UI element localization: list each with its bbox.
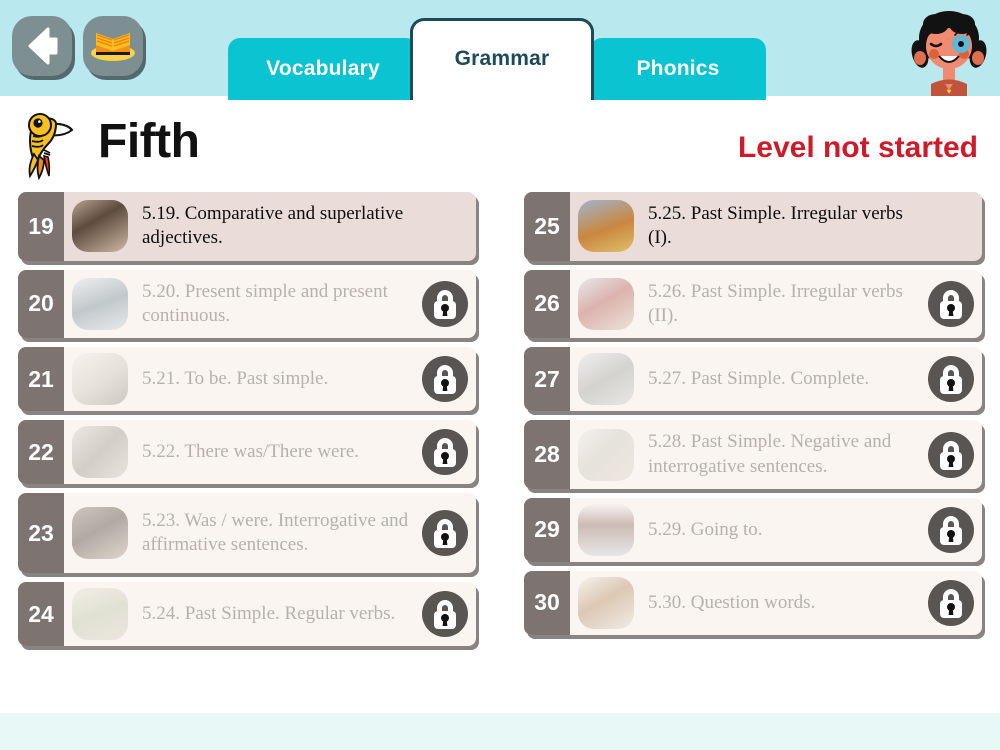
lesson-lock-icon	[420, 582, 476, 646]
lesson-number-badge: 22	[18, 420, 64, 484]
lesson-number-badge: 26	[524, 270, 570, 339]
lesson-thumbnail	[72, 507, 128, 559]
book-button[interactable]	[83, 16, 143, 76]
lesson-thumbnail	[578, 353, 634, 405]
page-title: Fifth	[98, 114, 199, 169]
lesson-thumbnail	[72, 426, 128, 478]
lesson-thumbnail	[578, 429, 634, 481]
padlock-closed-icon	[422, 281, 468, 327]
padlock-closed-icon	[422, 429, 468, 475]
lesson-title: 5.24. Past Simple. Regular verbs.	[128, 582, 420, 646]
lesson-number-badge: 29	[524, 498, 570, 562]
lesson-lock-icon	[926, 420, 982, 489]
lesson-title: 5.19. Comparative and superlative adject…	[128, 192, 420, 261]
tab-phonics-label: Phonics	[636, 57, 719, 81]
lesson-lock-icon	[420, 420, 476, 484]
lesson-column-right: 255.25. Past Simple. Irregular verbs (I)…	[524, 192, 982, 644]
lesson-row[interactable]: 245.24. Past Simple. Regular verbs.	[18, 582, 476, 646]
lesson-number-badge: 24	[18, 582, 64, 646]
padlock-closed-icon	[422, 510, 468, 556]
lesson-lock-icon	[926, 571, 982, 635]
lesson-thumbnail	[578, 504, 634, 556]
lesson-title: 5.28. Past Simple. Negative and interrog…	[634, 420, 926, 489]
lesson-number-badge: 28	[524, 420, 570, 489]
lesson-title: 5.29. Going to.	[634, 498, 926, 562]
section-tabs: Vocabulary Grammar Phonics	[228, 20, 768, 100]
lesson-title: 5.27. Past Simple. Complete.	[634, 347, 926, 411]
tab-vocabulary[interactable]: Vocabulary	[228, 38, 418, 100]
footer-band	[0, 713, 1000, 750]
lesson-thumbnail	[578, 577, 634, 629]
tab-grammar-label: Grammar	[455, 47, 550, 71]
lesson-row[interactable]: 235.23. Was / were. Interrogative and af…	[18, 493, 476, 573]
lesson-thumbnail	[72, 278, 128, 330]
lesson-thumbnail	[72, 588, 128, 640]
lesson-row[interactable]: 205.20. Present simple and present conti…	[18, 270, 476, 339]
lesson-number-badge: 27	[524, 347, 570, 411]
lesson-row[interactable]: 225.22. There was/There were.	[18, 420, 476, 484]
lesson-title: 5.26. Past Simple. Irregular verbs (II).	[634, 270, 926, 339]
lesson-title: 5.22. There was/There were.	[128, 420, 420, 484]
padlock-closed-icon	[928, 507, 974, 553]
student-avatar-icon: ♥	[903, 2, 995, 96]
level-header: Fifth Level not started	[0, 100, 1000, 186]
svg-text:♥: ♥	[947, 87, 952, 96]
level-status-text: Level not started	[738, 131, 978, 165]
lesson-row[interactable]: 305.30. Question words.	[524, 571, 982, 635]
lesson-lock-icon	[420, 270, 476, 339]
arrow-left-icon	[12, 16, 72, 76]
lesson-lock-icon	[926, 270, 982, 339]
lesson-row[interactable]: 195.19. Comparative and superlative adje…	[18, 192, 476, 261]
padlock-closed-icon	[928, 356, 974, 402]
lesson-row[interactable]: 275.27. Past Simple. Complete.	[524, 347, 982, 411]
lesson-lock-icon	[926, 498, 982, 562]
padlock-closed-icon	[422, 591, 468, 637]
lesson-thumbnail	[578, 200, 634, 252]
lesson-number-badge: 25	[524, 192, 570, 261]
lesson-number-badge: 21	[18, 347, 64, 411]
lesson-number-badge: 23	[18, 493, 64, 573]
padlock-closed-icon	[928, 281, 974, 327]
lesson-lock-icon	[420, 347, 476, 411]
toucan-bird-icon	[14, 108, 76, 180]
lesson-column-left: 195.19. Comparative and superlative adje…	[18, 192, 476, 655]
lesson-title: 5.25. Past Simple. Irregular verbs (I).	[634, 192, 926, 261]
lesson-row[interactable]: 255.25. Past Simple. Irregular verbs (I)…	[524, 192, 982, 261]
lesson-lock-icon	[926, 347, 982, 411]
avatar[interactable]: ♥	[903, 2, 995, 96]
lesson-thumbnail	[578, 278, 634, 330]
lesson-title: 5.30. Question words.	[634, 571, 926, 635]
tab-phonics[interactable]: Phonics	[590, 38, 766, 100]
back-button[interactable]	[12, 16, 72, 76]
tab-vocabulary-label: Vocabulary	[266, 57, 380, 81]
lesson-title: 5.20. Present simple and present continu…	[128, 270, 420, 339]
lesson-number-badge: 19	[18, 192, 64, 261]
lesson-number-badge: 20	[18, 270, 64, 339]
lesson-thumbnail	[72, 200, 128, 252]
padlock-closed-icon	[422, 356, 468, 402]
lesson-row[interactable]: 265.26. Past Simple. Irregular verbs (II…	[524, 270, 982, 339]
lesson-number-badge: 30	[524, 571, 570, 635]
padlock-closed-icon	[928, 580, 974, 626]
padlock-closed-icon	[928, 432, 974, 478]
lesson-row[interactable]: 215.21. To be. Past simple.	[18, 347, 476, 411]
lesson-row[interactable]: 295.29. Going to.	[524, 498, 982, 562]
lesson-lock-icon	[420, 493, 476, 573]
lesson-title: 5.21. To be. Past simple.	[128, 347, 420, 411]
tab-grammar[interactable]: Grammar	[410, 18, 594, 100]
lesson-title: 5.23. Was / were. Interrogative and affi…	[128, 493, 420, 573]
open-book-icon	[83, 16, 143, 76]
lesson-row[interactable]: 285.28. Past Simple. Negative and interr…	[524, 420, 982, 489]
lesson-thumbnail	[72, 353, 128, 405]
